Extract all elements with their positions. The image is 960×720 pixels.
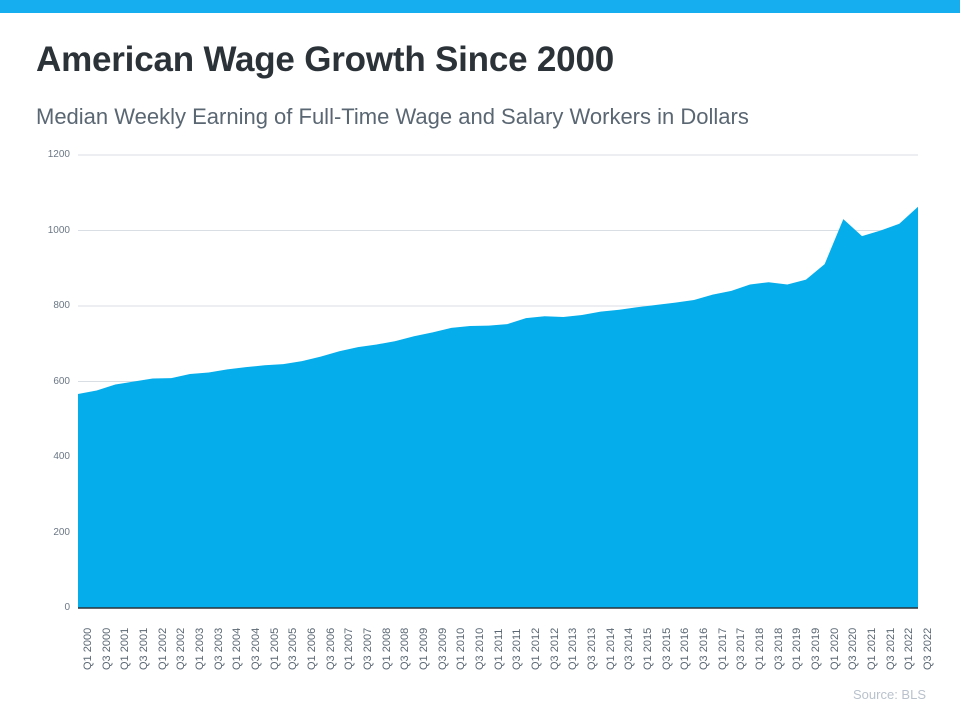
x-tick-label: Q1 2013 [567,628,579,670]
y-tick-label: 400 [10,451,70,462]
x-tick-label: Q1 2008 [381,628,393,670]
x-tick-label: Q3 2003 [213,628,225,670]
x-tick-label: Q1 2012 [530,628,542,670]
x-tick-label: Q3 2022 [922,628,934,670]
x-tick-label: Q1 2021 [866,628,878,670]
x-tick-label: Q3 2001 [138,628,150,670]
y-tick-label: 800 [10,300,70,311]
x-tick-label: Q1 2010 [455,628,467,670]
chart-plot-area: 020040060080010001200 Q1 2000Q3 2000Q1 2… [0,0,960,720]
x-tick-label: Q1 2001 [119,628,131,670]
x-tick-label: Q3 2002 [175,628,187,670]
x-tick-label: Q1 2007 [343,628,355,670]
x-tick-label: Q3 2021 [885,628,897,670]
x-tick-label: Q1 2011 [493,629,505,670]
x-tick-label: Q3 2005 [287,628,299,670]
x-tick-label: Q1 2009 [418,628,430,670]
x-tick-label: Q3 2017 [735,628,747,670]
x-tick-label: Q3 2011 [511,629,523,670]
y-tick-label: 600 [10,376,70,387]
x-tick-label: Q3 2007 [362,628,374,670]
x-tick-label: Q1 2006 [306,628,318,670]
x-tick-label: Q3 2000 [101,628,113,670]
x-tick-label: Q1 2015 [642,628,654,670]
x-tick-label: Q1 2017 [717,628,729,670]
x-tick-label: Q1 2000 [82,628,94,670]
x-tick-label: Q3 2014 [623,628,635,670]
area-chart-svg [0,0,960,720]
y-tick-label: 0 [10,602,70,613]
x-tick-label: Q3 2013 [586,628,598,670]
x-tick-label: Q1 2014 [605,628,617,670]
x-tick-label: Q3 2008 [399,628,411,670]
x-tick-label: Q3 2019 [810,628,822,670]
x-tick-label: Q3 2018 [773,628,785,670]
x-tick-label: Q3 2004 [250,628,262,670]
x-tick-label: Q3 2009 [437,628,449,670]
x-tick-label: Q1 2022 [903,628,915,670]
x-tick-label: Q1 2004 [231,628,243,670]
x-tick-label: Q3 2006 [325,628,337,670]
x-tick-label: Q1 2019 [791,628,803,670]
x-tick-label: Q1 2002 [157,628,169,670]
x-tick-label: Q1 2018 [754,628,766,670]
x-tick-label: Q1 2020 [829,628,841,670]
x-tick-label: Q1 2003 [194,628,206,670]
x-tick-label: Q3 2010 [474,628,486,670]
y-tick-label: 1200 [10,149,70,160]
x-tick-label: Q1 2005 [269,628,281,670]
x-tick-label: Q3 2020 [847,628,859,670]
wage-area-series [78,207,918,608]
x-tick-label: Q3 2016 [698,628,710,670]
x-tick-label: Q1 2016 [679,628,691,670]
x-tick-label: Q3 2015 [661,628,673,670]
source-note: Source: BLS [853,687,926,702]
y-tick-label: 1000 [10,225,70,236]
y-tick-label: 200 [10,527,70,538]
x-tick-label: Q3 2012 [549,628,561,670]
